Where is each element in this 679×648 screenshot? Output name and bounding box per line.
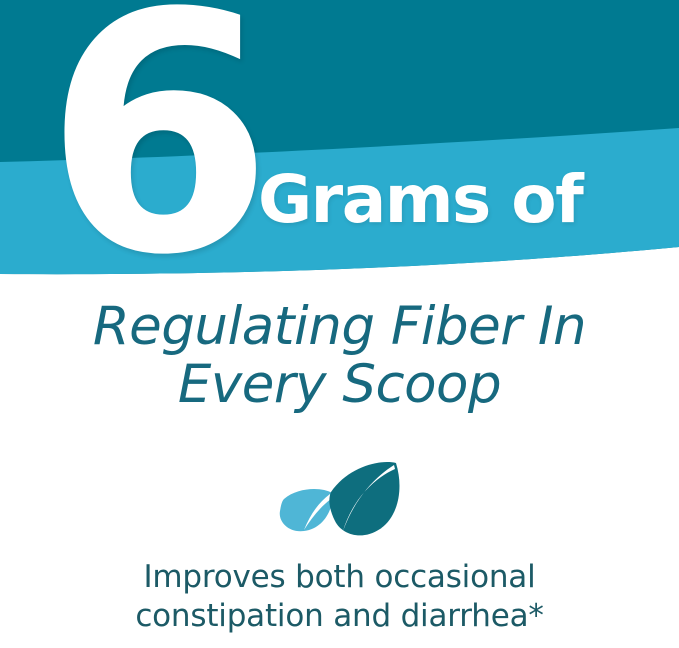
- grams-amount-number: 6: [44, 0, 264, 290]
- tagline-line-1: Improves both occasional: [0, 558, 679, 597]
- tagline: Improves both occasional constipation an…: [0, 558, 679, 636]
- fiber-supplement-promo-card: 6 Grams of Regulating Fiber In Every Sco…: [0, 0, 679, 648]
- leaf-mark-container: [0, 459, 679, 545]
- banner-header: 6 Grams of: [0, 0, 679, 290]
- banner-text-layer: 6 Grams of: [0, 0, 679, 290]
- small-leaf-icon: [279, 489, 331, 531]
- tagline-line-2: constipation and diarrhea*: [0, 597, 679, 636]
- two-leaves-icon: [270, 459, 410, 545]
- headline-line-2: Every Scoop: [0, 356, 679, 414]
- headline: Regulating Fiber In Every Scoop: [0, 298, 679, 414]
- large-leaf-icon: [329, 462, 399, 535]
- headline-line-1: Regulating Fiber In: [0, 298, 679, 356]
- grams-of-label: Grams of: [258, 164, 582, 236]
